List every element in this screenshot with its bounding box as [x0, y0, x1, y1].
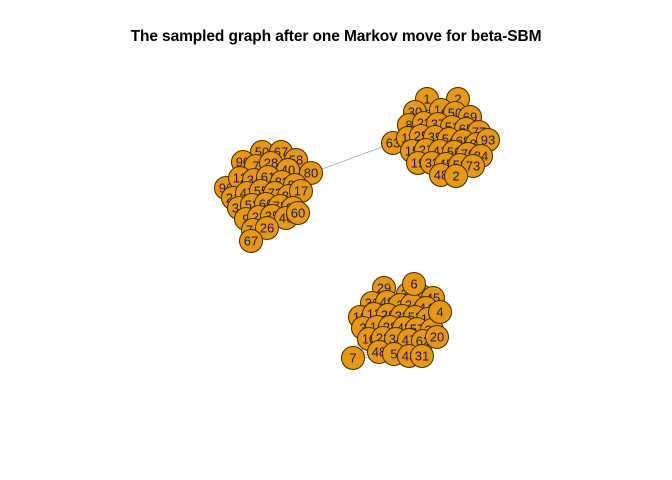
graph-node[interactable]: 7: [342, 347, 365, 370]
node-layer: 5067589072840809612346183942147557286173…: [215, 88, 500, 370]
network-graph-canvas: 5067589072840809612346183942147557286173…: [0, 0, 672, 480]
node-circle[interactable]: [411, 345, 434, 368]
graph-node[interactable]: 4: [429, 301, 452, 324]
graph-node[interactable]: 31: [411, 345, 434, 368]
graph-edge: [311, 143, 393, 173]
node-circle[interactable]: [429, 301, 452, 324]
node-circle[interactable]: [287, 202, 310, 225]
node-circle[interactable]: [426, 326, 449, 349]
graph-node[interactable]: 20: [426, 326, 449, 349]
graph-node[interactable]: 67: [240, 230, 263, 253]
node-circle[interactable]: [403, 273, 426, 296]
graph-node[interactable]: 60: [287, 202, 310, 225]
graph-plot-root: The sampled graph after one Markov move …: [0, 0, 672, 480]
node-circle[interactable]: [240, 230, 263, 253]
node-circle[interactable]: [342, 347, 365, 370]
node-circle[interactable]: [445, 165, 468, 188]
graph-node[interactable]: 2: [445, 165, 468, 188]
graph-node[interactable]: 6: [403, 273, 426, 296]
